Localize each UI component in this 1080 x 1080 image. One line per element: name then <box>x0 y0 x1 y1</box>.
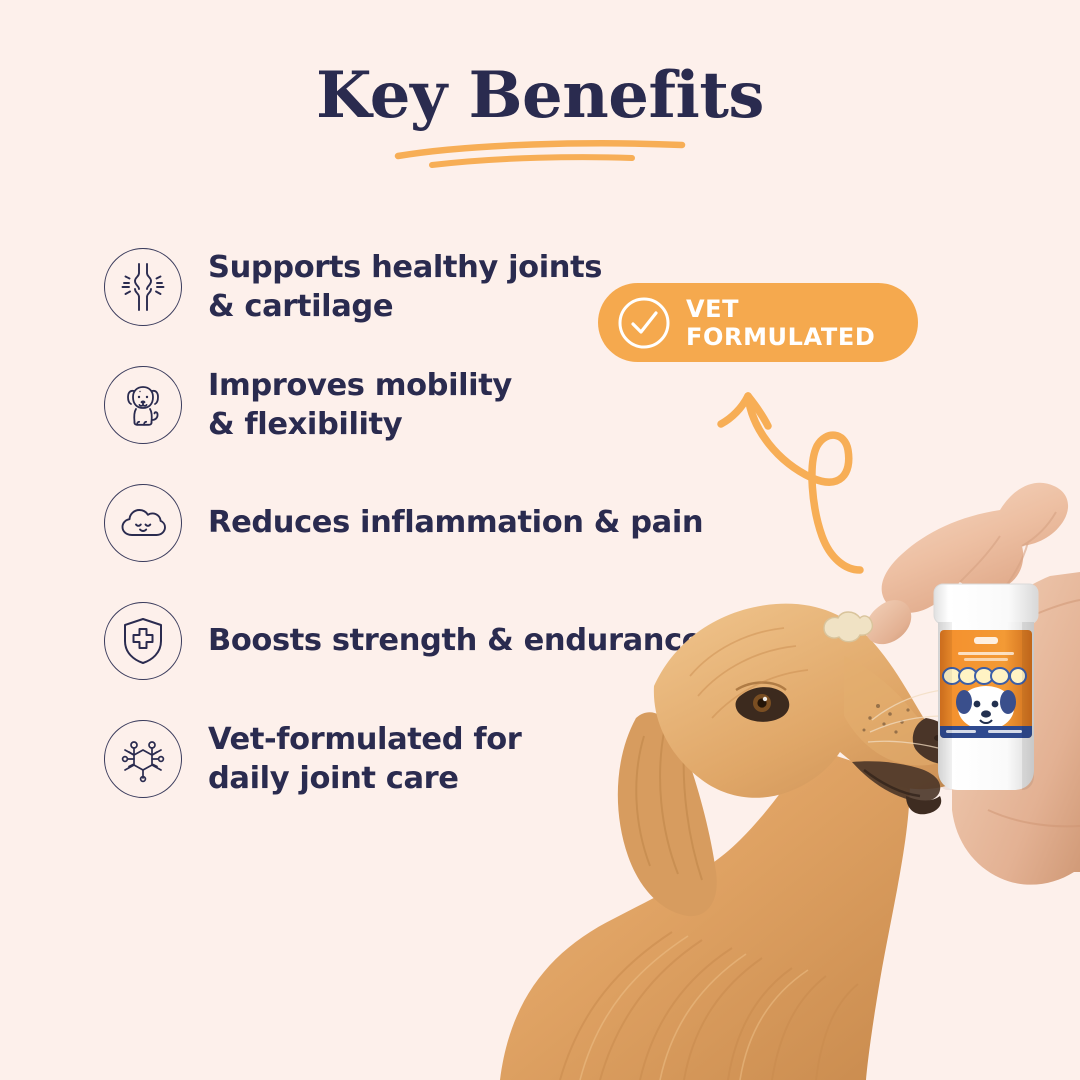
benefit-line-2: & flexibility <box>208 407 402 442</box>
infographic-canvas: Key Benefits Supports healthy joints & c… <box>0 0 1080 1080</box>
benefit-item: Improves mobility & flexibility <box>104 346 724 464</box>
shield-cross-icon <box>104 602 182 680</box>
header: Key Benefits <box>0 62 1080 129</box>
joint-bone-icon <box>104 248 182 326</box>
molecule-icon <box>104 720 182 798</box>
sitting-dog-icon <box>104 366 182 444</box>
dog-body <box>500 748 910 1080</box>
page-title: Key Benefits <box>0 62 1080 129</box>
product-photo <box>440 480 1080 1080</box>
supplement-bottle <box>934 584 1038 790</box>
benefit-line-2: daily joint care <box>208 761 459 796</box>
benefit-label: Supports healthy joints & cartilage <box>208 248 602 326</box>
benefit-line-2: & cartilage <box>208 289 393 324</box>
benefit-line-1: Supports healthy joints <box>208 250 602 285</box>
badge-label: VET FORMULATED <box>686 295 918 351</box>
omega-3-wordmark <box>943 668 1026 684</box>
smiling-cloud-icon <box>104 484 182 562</box>
double-swoosh-underline-icon <box>390 138 690 172</box>
check-circle-icon <box>616 295 672 351</box>
vet-formulated-badge[interactable]: VET FORMULATED <box>598 283 918 362</box>
benefit-label: Improves mobility & flexibility <box>208 366 512 444</box>
benefit-line-1: Improves mobility <box>208 368 512 403</box>
dog-with-supplement-illustration <box>440 480 1080 1080</box>
